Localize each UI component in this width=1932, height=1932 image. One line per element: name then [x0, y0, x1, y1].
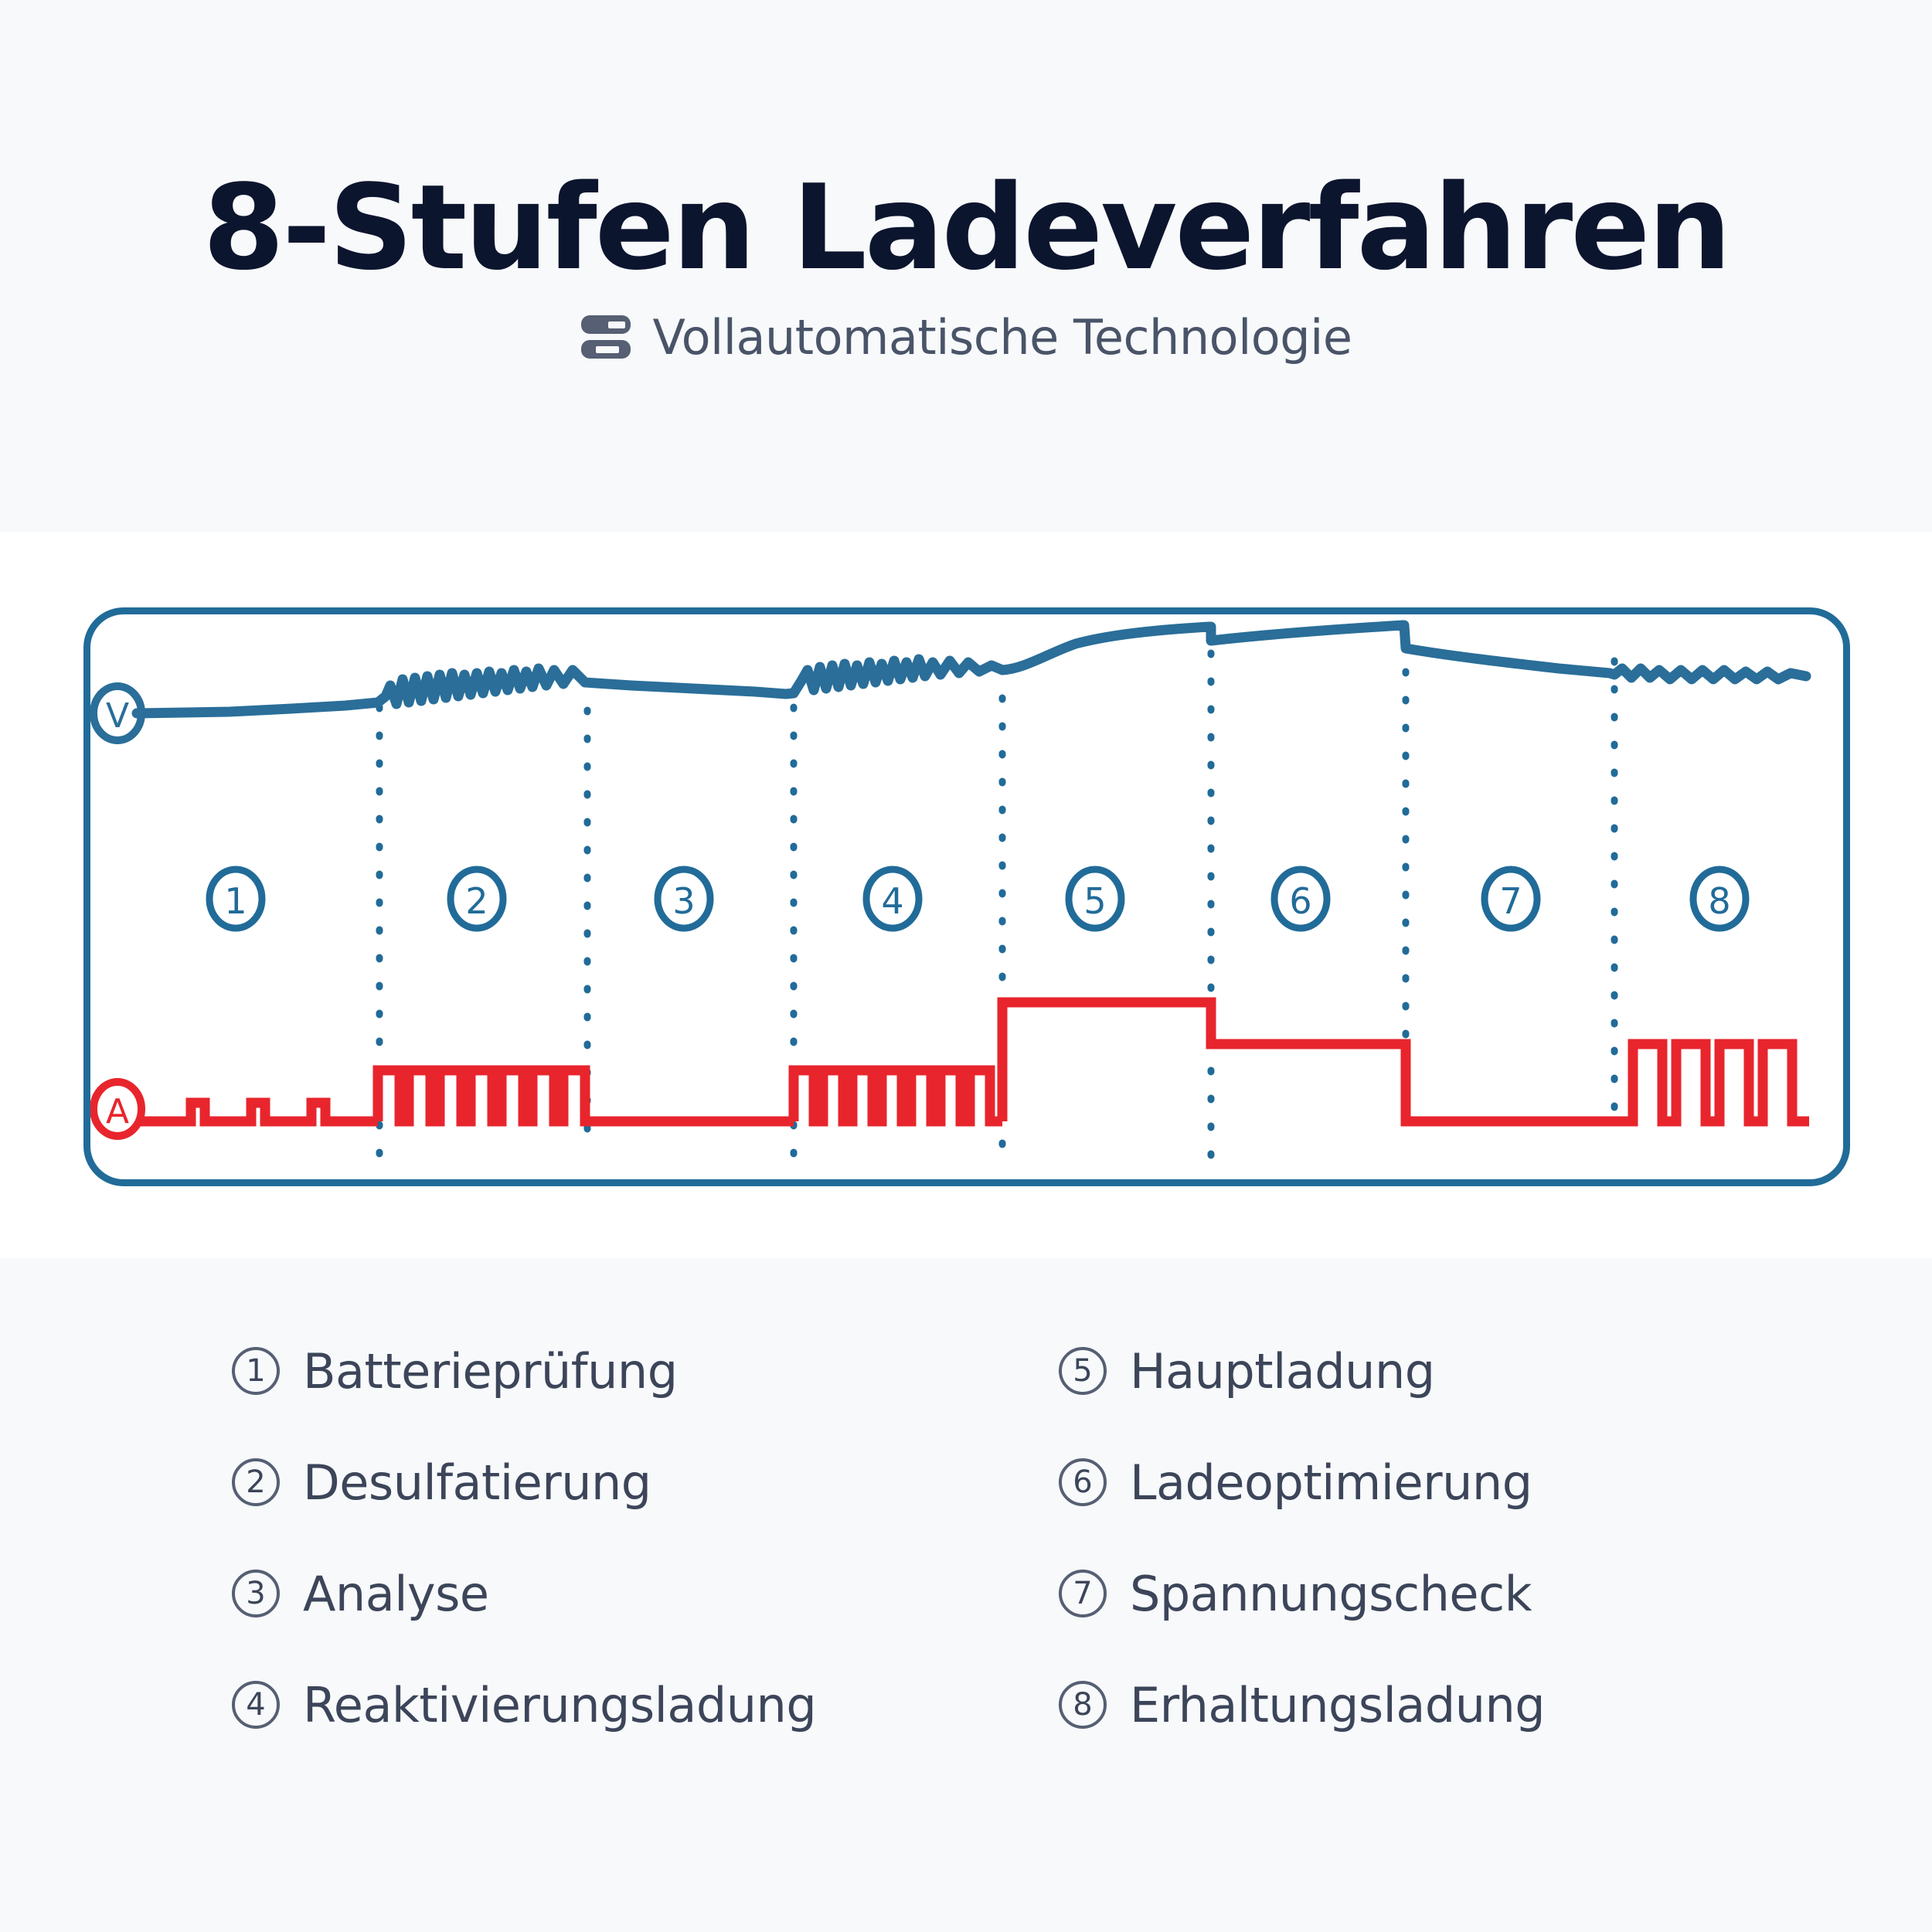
legend-number-6: 6 — [1059, 1458, 1107, 1506]
page-title: 8-Stufen Ladeverfahren — [202, 166, 1729, 290]
header-section: 8-Stufen Ladeverfahren Vollautomatische … — [0, 0, 1932, 532]
legend-item-6[interactable]: 6 Ladeoptimierung — [1059, 1447, 1731, 1518]
legend-label-8: Erhaltungsladung — [1130, 1677, 1545, 1733]
legend-label-3: Analyse — [303, 1566, 489, 1622]
stage-marker-7-label: 7 — [1499, 880, 1522, 922]
legend-number-4: 4 — [232, 1681, 280, 1729]
legend-item-4[interactable]: 4 Reaktivierungsladung — [232, 1669, 904, 1740]
legend-label-2: Desulfatierung — [303, 1454, 651, 1511]
legend-item-8[interactable]: 8 Erhaltungsladung — [1059, 1669, 1731, 1740]
stage-marker-3-label: 3 — [672, 880, 695, 922]
stage-marker-2-label: 2 — [465, 880, 488, 922]
legend-item-2[interactable]: 2 Desulfatierung — [232, 1447, 904, 1518]
chart-panel: V A 1 2 — [83, 607, 1850, 1186]
legend-label-7: Spannungscheck — [1130, 1566, 1532, 1622]
legend-label-6: Ladeoptimierung — [1130, 1454, 1532, 1511]
legend-item-5[interactable]: 5 Hauptladung — [1059, 1335, 1731, 1406]
current-badge-label: A — [106, 1092, 129, 1131]
legend-label-1: Batterieprüfung — [303, 1343, 678, 1400]
voltage-badge-label: V — [106, 696, 129, 736]
stage-marker-7: 7 — [1485, 869, 1537, 928]
subtitle-row: Vollautomatische Technologie — [580, 309, 1352, 366]
legend-number-8: 8 — [1059, 1681, 1107, 1729]
stage-marker-1-label: 1 — [224, 880, 247, 922]
stage-markers: 1 2 3 4 5 — [209, 869, 1746, 928]
legend-label-5: Hauptladung — [1130, 1343, 1435, 1400]
stage-marker-2: 2 — [451, 869, 503, 928]
stage-marker-6-label: 6 — [1289, 880, 1311, 922]
chart-section: V A 1 2 — [0, 532, 1932, 1258]
stage-marker-4: 4 — [866, 869, 919, 928]
stage-marker-4-label: 4 — [881, 880, 903, 922]
voltage-curve — [137, 625, 1806, 713]
infographic-page: 8-Stufen Ladeverfahren Vollautomatische … — [0, 0, 1932, 1932]
legend-number-1: 1 — [232, 1347, 280, 1395]
legend-number-3: 3 — [232, 1570, 280, 1617]
stage-marker-3: 3 — [658, 869, 710, 928]
stage-marker-6: 6 — [1274, 869, 1327, 928]
current-curve — [137, 1002, 1809, 1121]
server-icon — [580, 314, 631, 362]
legend-item-1[interactable]: 1 Batterieprüfung — [232, 1335, 904, 1406]
legend-item-3[interactable]: 3 Analyse — [232, 1558, 904, 1629]
legend-label-4: Reaktivierungsladung — [303, 1677, 816, 1733]
current-badge: A — [94, 1082, 141, 1136]
stage-marker-1: 1 — [209, 869, 262, 928]
legend-number-5: 5 — [1059, 1347, 1107, 1395]
legend-grid: 1 Batterieprüfung 5 Hauptladung 2 Desulf… — [232, 1335, 1731, 1740]
legend-item-7[interactable]: 7 Spannungscheck — [1059, 1558, 1731, 1629]
stage-marker-5: 5 — [1069, 869, 1121, 928]
legend-number-7: 7 — [1059, 1570, 1107, 1617]
legend-number-2: 2 — [232, 1458, 280, 1506]
stage-marker-5-label: 5 — [1083, 880, 1106, 922]
subtitle-text: Vollautomatische Technologie — [653, 309, 1352, 366]
stage-marker-8: 8 — [1693, 869, 1746, 928]
stage-marker-8-label: 8 — [1708, 880, 1730, 922]
charging-curve-chart: V A 1 2 — [90, 614, 1857, 1193]
